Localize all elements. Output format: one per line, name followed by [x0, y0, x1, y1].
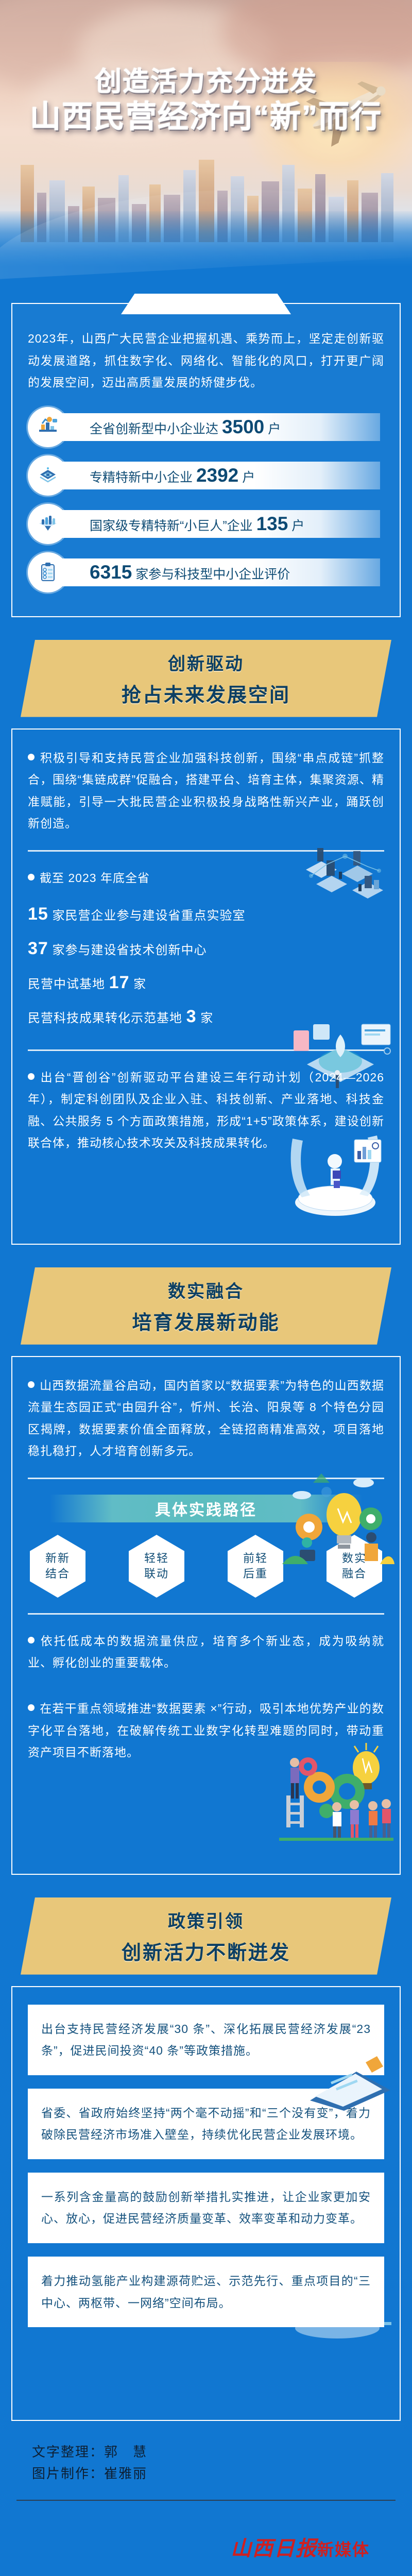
documents-policy-illustration [300, 2053, 392, 2115]
number-line: 民营科技成果转化示范基地 3 家 [28, 999, 384, 1033]
title-line-1: 创造活力充分迸发 [0, 67, 412, 97]
stat-text: 全省创新型中小企业达 3500 户 [90, 416, 281, 438]
panel-innovation: 积极引导和支持民营企业加强科技创新，围绕“串点成链”抓整合，围绕“集链成群”促融… [11, 728, 401, 1245]
team-growth-icon [28, 504, 68, 544]
banner-line-2: 培育发展新动能 [132, 1307, 280, 1335]
banner-line-1: 创新驱动 [168, 650, 244, 675]
lightbulb-gears-illustration [277, 1465, 396, 1573]
stat-text: 国家级专精特新“小巨人”企业 135 户 [90, 513, 304, 535]
number-line: 37 家参与建设省技术创新中心 [28, 931, 384, 965]
stat-bar: 国家级专精特新“小巨人”企业 135 户 [49, 510, 380, 538]
hexagon-line-1: 新新 [45, 1551, 70, 1566]
stat-text: 专精特新中小企业 2392 户 [90, 465, 255, 486]
intro-paragraph: 2023年，山西广大民营企业把握机遇、乘势而上，坚定走创新驱动发展道路，抓住数字… [28, 328, 384, 394]
stat-bar: 全省创新型中小企业达 3500 户 [49, 413, 380, 441]
stat-item: 专精特新中小企业 2392 户 [28, 455, 384, 496]
hexagon-item: 轻轻 联动 [129, 1535, 184, 1598]
section-banner-digital: 数实融合 培育发展新动能 [21, 1267, 391, 1345]
number-line: 民营中试基地 17 家 [28, 965, 384, 999]
footer: 文字整理：郭 慧 图片制作：崔雅丽 山西日报新媒体 [0, 2421, 412, 2576]
bullet-dot [28, 1704, 35, 1711]
hexagon-item: 新新 结合 [30, 1535, 85, 1598]
credit-image-line: 图片制作：崔雅丽 [32, 2463, 401, 2485]
hexagon-line-2: 后重 [243, 1566, 268, 1582]
stat-text: 6315 家参与科技型中小企业评价 [90, 562, 290, 583]
bullet-dot [28, 1073, 35, 1080]
stat-item: 国家级专精特新“小巨人”企业 135 户 [28, 504, 384, 544]
infographic-page: 创造活力充分迸发 山西民营经济向“新”而行 2023年，山西广大民营企业把握机遇… [0, 0, 412, 2576]
brand-sub: 新媒体 [317, 2540, 370, 2559]
factory-robot-icon [28, 407, 68, 447]
title-line-2: 山西民营经济向“新”而行 [0, 99, 412, 134]
section-banner-policy: 政策引领 创新活力不断迸发 [21, 1897, 391, 1975]
intro-section: 2023年，山西广大民营企业把握机遇、乘势而上，坚定走创新驱动发展道路，抓住数字… [11, 289, 401, 617]
notch-decoration [121, 294, 291, 314]
stat-bar: 6315 家参与科技型中小企业评价 [49, 558, 380, 586]
hero-banner: 创造活力充分迸发 山西民营经济向“新”而行 [0, 0, 412, 289]
bullet-dot [28, 1637, 35, 1643]
panel-policy: 出台支持民营经济发展“30 条”、深化拓展民营经济发展“23 条”，促进民间投资… [11, 1986, 401, 2421]
divider [28, 1613, 384, 1615]
bullet-dot [28, 754, 35, 760]
hexagon-item: 前轻 后重 [228, 1535, 283, 1598]
stat-item: 全省创新型中小企业达 3500 户 [28, 407, 384, 447]
bullet-paragraph: 积极引导和支持民营企业加强科技创新，围绕“串点成链”抓整合，围绕“集链成群”促融… [28, 747, 384, 835]
stats-list: 全省创新型中小企业达 3500 户 [28, 407, 384, 592]
bullet-paragraph: 山西数据流量谷启动，国内首家以“数据要素”为特色的山西数据流量生态园正式“由园升… [28, 1375, 384, 1462]
clipboard-check-icon [28, 552, 68, 592]
bullet-dot [28, 1381, 35, 1388]
stat-item: 6315 家参与科技型中小企业评价 [28, 552, 384, 592]
number-line: 15 家民营企业参与建设省重点实验室 [28, 897, 384, 931]
credits: 文字整理：郭 慧 图片制作：崔雅丽 [11, 2442, 401, 2484]
banner-line-1: 数实融合 [168, 1277, 244, 1302]
banner-line-1: 政策引领 [168, 1907, 244, 1933]
credit-text-line: 文字整理：郭 慧 [32, 2442, 401, 2463]
hexagon-line-2: 联动 [144, 1566, 169, 1582]
brand-area: 山西日报新媒体 [11, 2501, 401, 2576]
hexagon-line-1: 轻轻 [144, 1551, 169, 1566]
brand-logo: 山西日报新媒体 [231, 2532, 370, 2562]
panel-digital: 山西数据流量谷启动，国内首家以“数据要素”为特色的山西数据流量生态园正式“由园升… [11, 1356, 401, 1875]
bullet-paragraph: 截至 2023 年底全省 [28, 867, 384, 889]
bullet-paragraph: 依托低成本的数据流量供应，培育多个新业态，成为吸纳就业、孵化创业的重要载体。 [28, 1630, 384, 1674]
policy-card: 一系列含金量高的鼓励创新举措扎实推进，让企业家更加安心、放心，促进民营经济质量变… [28, 2173, 384, 2243]
section-banner-innovation: 创新驱动 抢占未来发展空间 [21, 640, 391, 717]
intro-box: 2023年，山西广大民营企业把握机遇、乘势而上，坚定走创新驱动发展道路，抓住数字… [11, 303, 401, 617]
numbers-list: 15 家民营企业参与建设省重点实验室 37 家参与建设省技术创新中心 民营中试基… [28, 897, 384, 1033]
hexagon-line-1: 前轻 [243, 1551, 268, 1566]
bullet-dot [28, 874, 35, 880]
bullet-paragraph: 在若干重点领域推进“数据要素 ×”行动，吸引本地优势产业的数字化平台落地，在破解… [28, 1698, 384, 1764]
hexagon-line-2: 结合 [45, 1566, 70, 1582]
policy-card: 着力推动氢能产业构建源荷贮运、示范先行、重点项目的“三中心、两枢带、一网络”空间… [28, 2257, 384, 2327]
page-title: 创造活力充分迸发 山西民营经济向“新”而行 [0, 67, 412, 135]
stat-bar: 专精特新中小企业 2392 户 [49, 462, 380, 489]
banner-line-2: 抢占未来发展空间 [122, 679, 290, 707]
banner-line-2: 创新活力不断迸发 [122, 1937, 290, 1965]
brand-main: 山西日报 [231, 2537, 317, 2560]
bullet-paragraph: 出台“晋创谷”创新驱动平台建设三年行动计划（2024—2026 年），制定科创团… [28, 1066, 384, 1154]
chip-icon [28, 455, 68, 496]
